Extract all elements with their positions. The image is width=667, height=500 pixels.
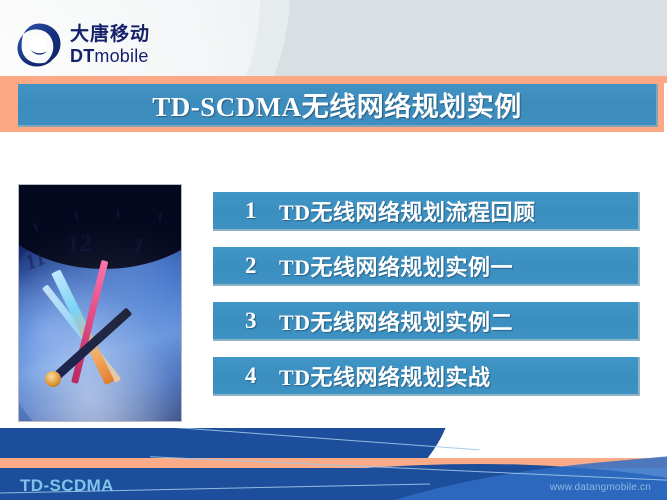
slide-canvas: 大唐移动 DTmobile TD-SCDMA无线网络规划实例 11 12 1 bbox=[0, 0, 667, 500]
slide-title-box: TD-SCDMA无线网络规划实例 bbox=[18, 84, 658, 127]
footer-url-label: www.datangmobile.cn bbox=[550, 482, 651, 493]
clock-photo: 11 12 1 bbox=[18, 184, 182, 422]
slide-footer: TD-SCDMA www.datangmobile.cn bbox=[0, 428, 667, 500]
agenda-item-number: 4 bbox=[245, 363, 279, 389]
dtmobile-swirl-logo-icon bbox=[16, 22, 62, 68]
brand-name-english-suffix: mobile bbox=[94, 46, 148, 66]
agenda-list: 1 TD无线网络规划流程回顾 2 TD无线网络规划实例一 3 TD无线网络规划实… bbox=[213, 192, 640, 396]
brand-name-chinese: 大唐移动 bbox=[70, 25, 150, 44]
agenda-item-4[interactable]: 4 TD无线网络规划实战 bbox=[213, 357, 640, 396]
agenda-item-number: 3 bbox=[245, 308, 279, 334]
brand-name-english-prefix: DT bbox=[70, 46, 94, 66]
brand-logo-text: 大唐移动 DTmobile bbox=[70, 25, 150, 65]
brand-name-english: DTmobile bbox=[70, 47, 150, 65]
agenda-item-1[interactable]: 1 TD无线网络规划流程回顾 bbox=[213, 192, 640, 231]
agenda-item-number: 2 bbox=[245, 253, 279, 279]
agenda-item-3[interactable]: 3 TD无线网络规划实例二 bbox=[213, 302, 640, 341]
agenda-item-label: TD无线网络规划实例一 bbox=[279, 250, 513, 282]
clock-photo-sheen bbox=[19, 185, 181, 421]
footer-brand-label: TD-SCDMA bbox=[20, 476, 114, 496]
agenda-item-2[interactable]: 2 TD无线网络规划实例一 bbox=[213, 247, 640, 286]
page-title: TD-SCDMA无线网络规划实例 bbox=[152, 85, 522, 124]
agenda-item-label: TD无线网络规划实战 bbox=[279, 360, 491, 392]
slide-title-banner: TD-SCDMA无线网络规划实例 bbox=[0, 79, 664, 132]
agenda-item-label: TD无线网络规划流程回顾 bbox=[279, 195, 536, 227]
brand-logo: 大唐移动 DTmobile bbox=[16, 22, 150, 68]
slide-header: 大唐移动 DTmobile bbox=[0, 0, 667, 76]
agenda-item-number: 1 bbox=[245, 198, 279, 224]
agenda-item-label: TD无线网络规划实例二 bbox=[279, 305, 513, 337]
